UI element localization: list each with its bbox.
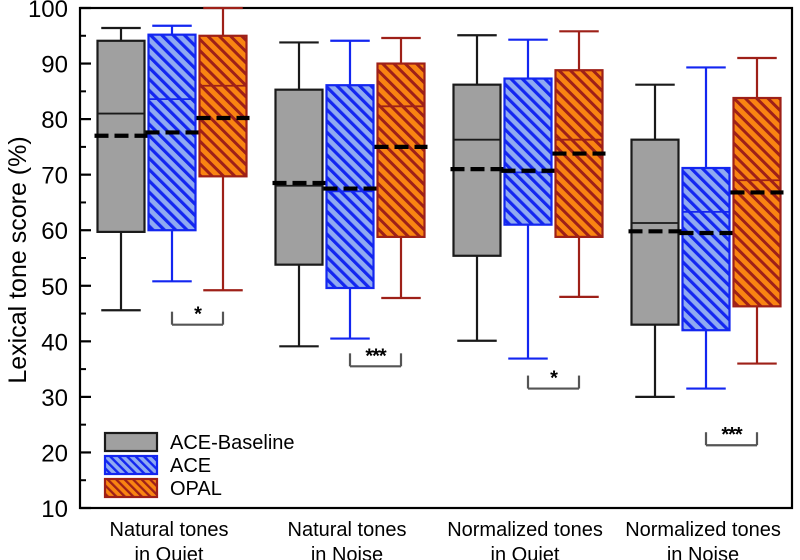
legend-item[interactable]: ACE xyxy=(105,455,211,477)
significance-label: * xyxy=(194,304,202,326)
x-axis-tick-label: Natural tones xyxy=(110,519,229,541)
box-iqr xyxy=(734,98,781,306)
x-axis-tick-label: Normalized tones xyxy=(447,519,603,541)
boxplot-box xyxy=(502,40,555,359)
y-axis-tick-label: 100 xyxy=(28,0,68,23)
y-axis-title: Lexical tone score (%) xyxy=(4,136,32,383)
boxplot-box xyxy=(197,8,250,290)
y-axis-tick-label: 50 xyxy=(41,274,68,301)
x-axis-tick-label: in Noise xyxy=(311,544,383,560)
y-axis-tick-label: 40 xyxy=(41,329,68,356)
boxplot-box xyxy=(553,31,606,297)
legend-label: ACE-Baseline xyxy=(170,432,295,454)
legend-label: ACE xyxy=(170,455,211,477)
boxplot-box xyxy=(324,41,377,339)
boxplot-box xyxy=(146,26,199,282)
significance-label: *** xyxy=(721,424,743,446)
significance-bracket: *** xyxy=(706,424,757,446)
y-axis-tick-label: 70 xyxy=(41,163,68,190)
box-iqr xyxy=(505,79,552,225)
x-axis-tick-label: in Quiet xyxy=(491,544,560,560)
significance-label: * xyxy=(550,368,558,390)
box-iqr xyxy=(276,90,323,265)
legend-swatch xyxy=(105,433,157,451)
legend-swatch xyxy=(105,456,157,474)
x-axis-tick-label: in Noise xyxy=(667,544,739,560)
y-axis-tick-label: 60 xyxy=(41,218,68,245)
y-axis-tick-label: 20 xyxy=(41,440,68,467)
significance-label: *** xyxy=(365,345,387,367)
boxplot-figure: 100908070605040302010********Natural ton… xyxy=(0,0,800,560)
significance-bracket: * xyxy=(528,368,579,390)
y-axis-tick-label: 10 xyxy=(41,496,68,523)
box-iqr xyxy=(683,168,730,330)
boxplot-box xyxy=(629,85,682,397)
box-iqr xyxy=(200,36,247,177)
significance-bracket: *** xyxy=(350,345,401,367)
boxplot-box xyxy=(273,42,326,346)
boxplot-box xyxy=(451,35,504,341)
box-iqr xyxy=(378,64,425,237)
legend-swatch xyxy=(105,479,157,497)
boxplot-box xyxy=(375,38,428,298)
boxplot-box xyxy=(680,67,733,388)
y-axis-tick-label: 90 xyxy=(41,52,68,79)
legend-item[interactable]: OPAL xyxy=(105,478,222,500)
y-axis-tick-label: 30 xyxy=(41,385,68,412)
significance-bracket: * xyxy=(172,304,223,326)
boxplot-box xyxy=(95,28,148,310)
legend-label: OPAL xyxy=(170,478,222,500)
chart-root: 100908070605040302010********Natural ton… xyxy=(0,0,800,560)
legend-item[interactable]: ACE-Baseline xyxy=(105,432,295,454)
y-axis-tick-label: 80 xyxy=(41,107,68,134)
x-axis-tick-label: Normalized tones xyxy=(625,519,781,541)
boxplot-box xyxy=(731,58,784,364)
x-axis-tick-label: Natural tones xyxy=(288,519,407,541)
plot-area: 100908070605040302010********Natural ton… xyxy=(28,0,792,560)
x-axis-tick-label: in Quiet xyxy=(135,544,204,560)
